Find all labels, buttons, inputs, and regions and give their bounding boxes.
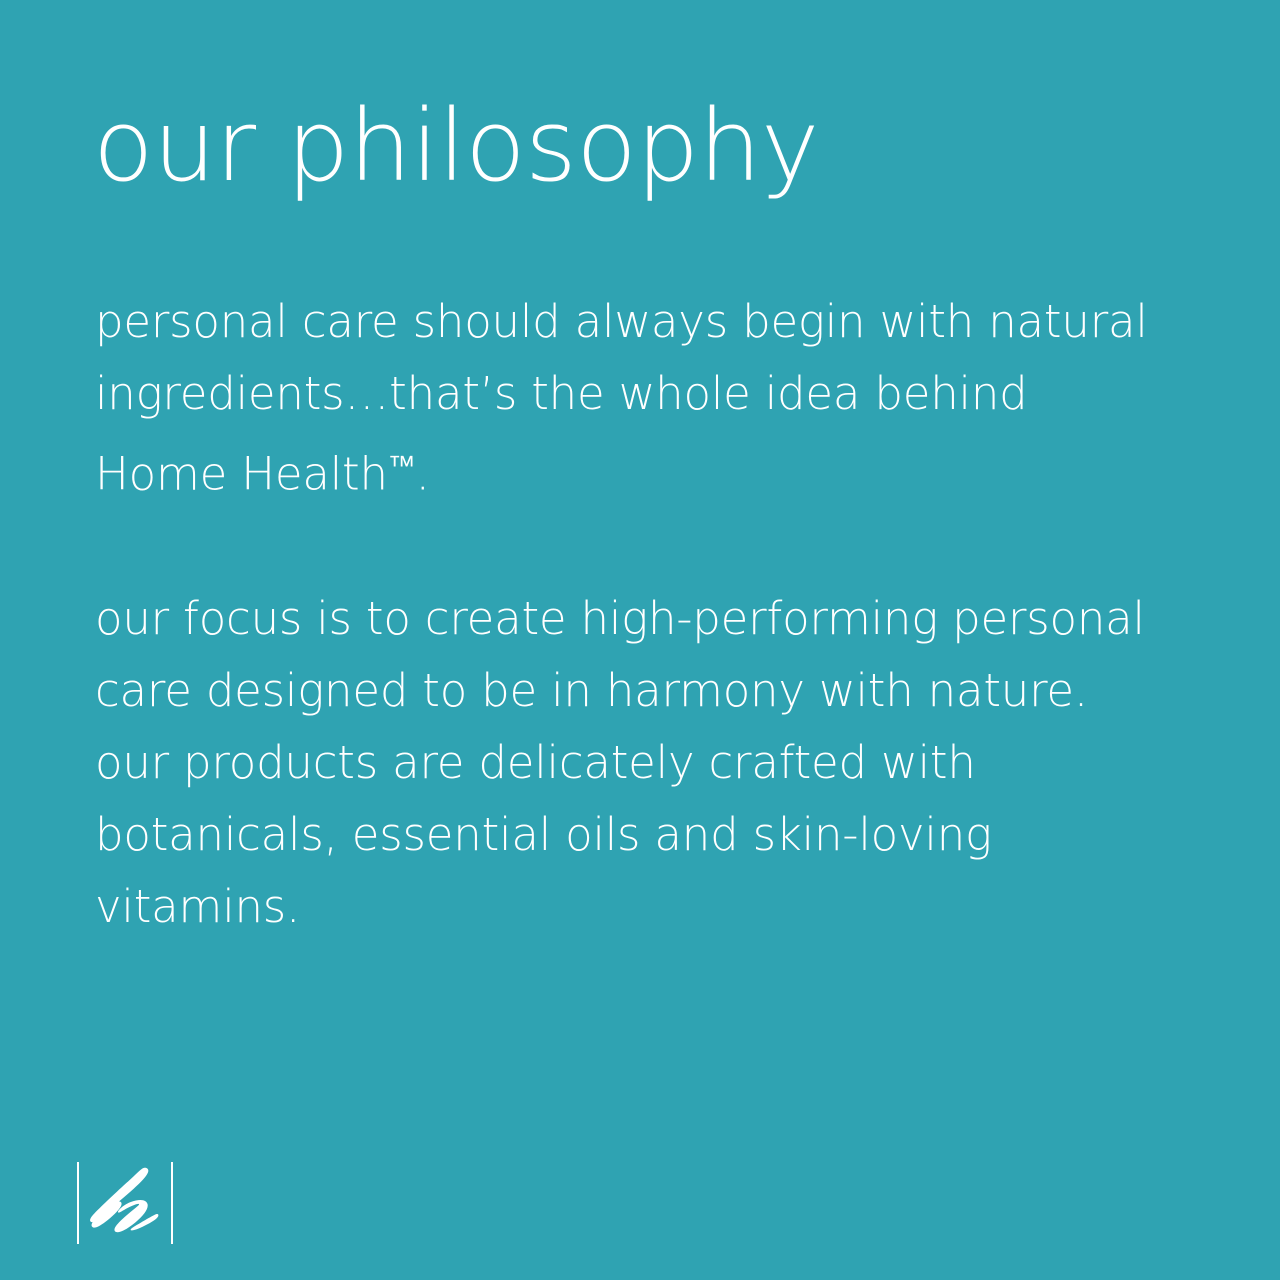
trademark-symbol: ™ — [388, 449, 416, 482]
brush-h-icon — [89, 1166, 161, 1240]
paragraph-text-tail: . — [416, 448, 430, 501]
paragraph-focus-statement: our focus is to create high-performing p… — [95, 583, 1165, 943]
philosophy-card: our philosophy personal care should alwa… — [0, 0, 1280, 1280]
logo-rule-left-icon — [77, 1162, 79, 1244]
brand-logo — [77, 1162, 175, 1244]
page-title: our philosophy — [93, 94, 1193, 201]
paragraph-text-main: personal care should always begin with n… — [95, 295, 1148, 501]
logo-rule-right-icon — [171, 1162, 173, 1244]
philosophy-copy: personal care should always begin with n… — [95, 286, 1165, 943]
paragraph-philosophy-statement: personal care should always begin with n… — [95, 286, 1165, 511]
